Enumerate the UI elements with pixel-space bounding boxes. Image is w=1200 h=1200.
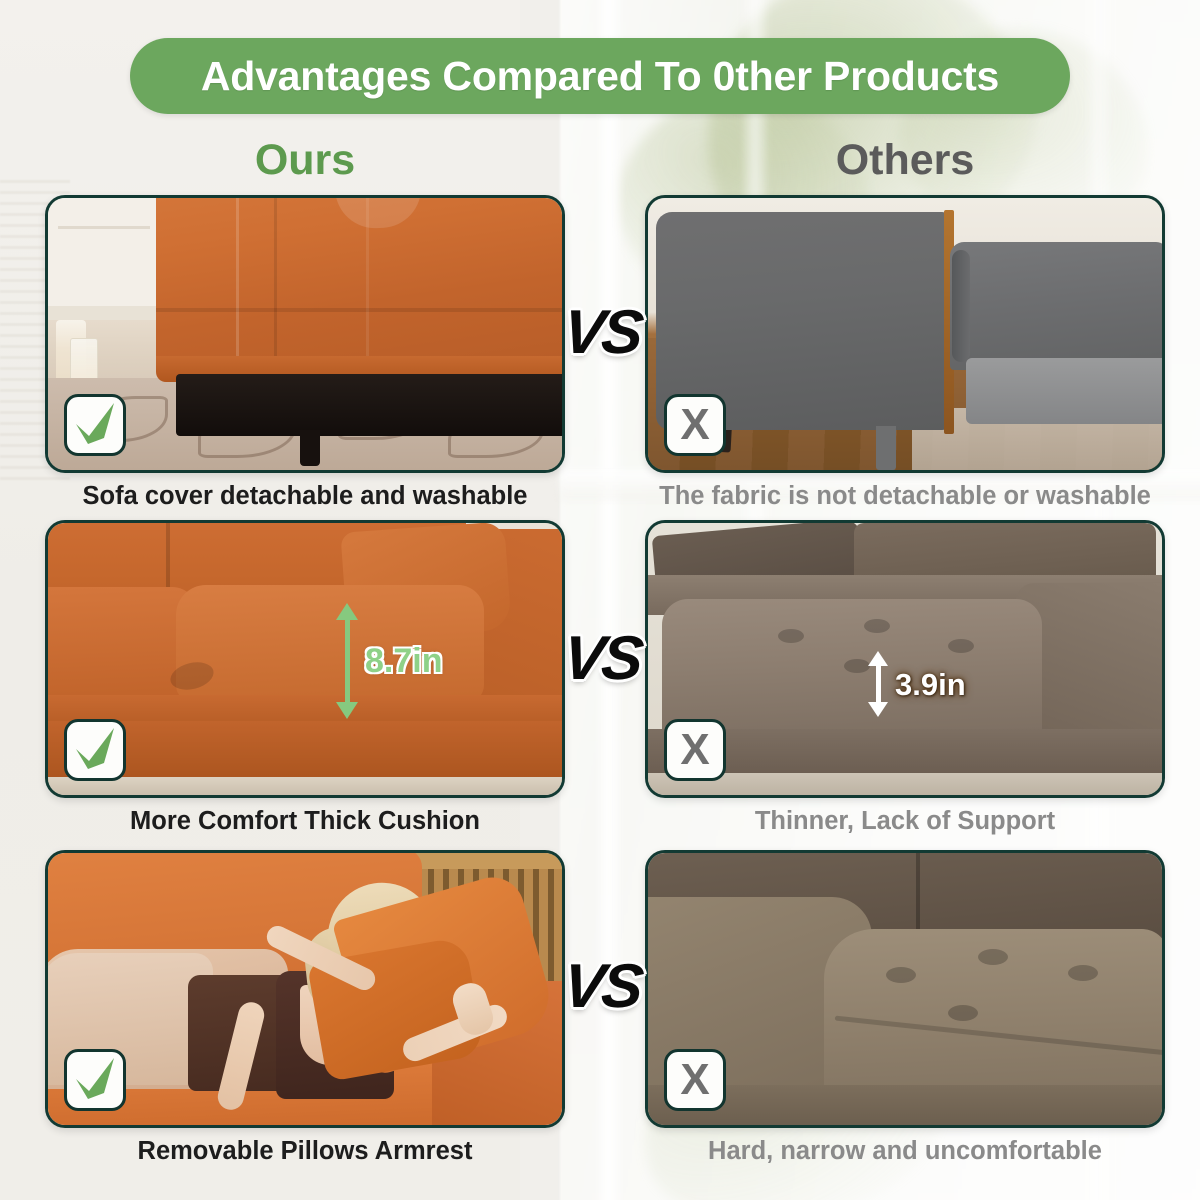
others-cell-1: X The fabric is not detachable or washab…: [645, 195, 1165, 511]
x-badge: X: [664, 1049, 726, 1111]
check-icon: [73, 405, 117, 445]
ours-caption-1: Sofa cover detachable and washable: [45, 482, 565, 511]
others-caption-1: The fabric is not detachable or washable: [645, 482, 1165, 511]
vs-badge-2: VS: [548, 622, 656, 694]
others-image-panel-2: 3.9in X: [645, 520, 1165, 798]
dimension-annotation-others: 3.9in: [868, 651, 966, 717]
others-cell-3: X Hard, narrow and uncomfortable: [645, 850, 1165, 1166]
vs-badge-1: VS: [548, 296, 656, 368]
check-icon: [73, 1060, 117, 1100]
x-icon: X: [680, 403, 709, 447]
double-arrow-icon: [868, 651, 888, 717]
others-caption-2: Thinner, Lack of Support: [645, 807, 1165, 836]
ours-cell-2: 8.7in More Comfort Thick Cushion: [45, 520, 565, 836]
x-icon: X: [680, 1058, 709, 1102]
banner-title: Advantages Compared To 0ther Products: [201, 53, 999, 100]
check-badge: [64, 719, 126, 781]
ours-cell-3: Removable Pillows Armrest: [45, 850, 565, 1166]
others-image-panel-3: X: [645, 850, 1165, 1128]
dimension-label-ours: 8.7in: [365, 644, 442, 678]
double-arrow-icon: [336, 603, 358, 719]
check-badge: [64, 394, 126, 456]
comparison-infographic: Advantages Compared To 0ther Products Ou…: [0, 0, 1200, 1200]
dimension-label-others: 3.9in: [895, 669, 966, 700]
x-badge: X: [664, 394, 726, 456]
title-banner: Advantages Compared To 0ther Products: [130, 38, 1070, 114]
dimension-annotation-ours: 8.7in: [336, 603, 442, 719]
ours-image-panel-3: [45, 850, 565, 1128]
ours-cell-1: Sofa cover detachable and washable: [45, 195, 565, 511]
others-cell-2: 3.9in X Thinner, Lack of Support: [645, 520, 1165, 836]
ours-image-panel-2: 8.7in: [45, 520, 565, 798]
column-heading-ours: Ours: [45, 136, 565, 185]
x-badge: X: [664, 719, 726, 781]
x-icon: X: [680, 728, 709, 772]
check-badge: [64, 1049, 126, 1111]
column-heading-others: Others: [645, 136, 1165, 185]
vs-badge-3: VS: [548, 950, 656, 1022]
ours-image-panel-1: [45, 195, 565, 473]
others-caption-3: Hard, narrow and uncomfortable: [645, 1137, 1165, 1166]
others-image-panel-1: X: [645, 195, 1165, 473]
ours-caption-3: Removable Pillows Armrest: [45, 1137, 565, 1166]
ours-caption-2: More Comfort Thick Cushion: [45, 807, 565, 836]
check-icon: [73, 730, 117, 770]
